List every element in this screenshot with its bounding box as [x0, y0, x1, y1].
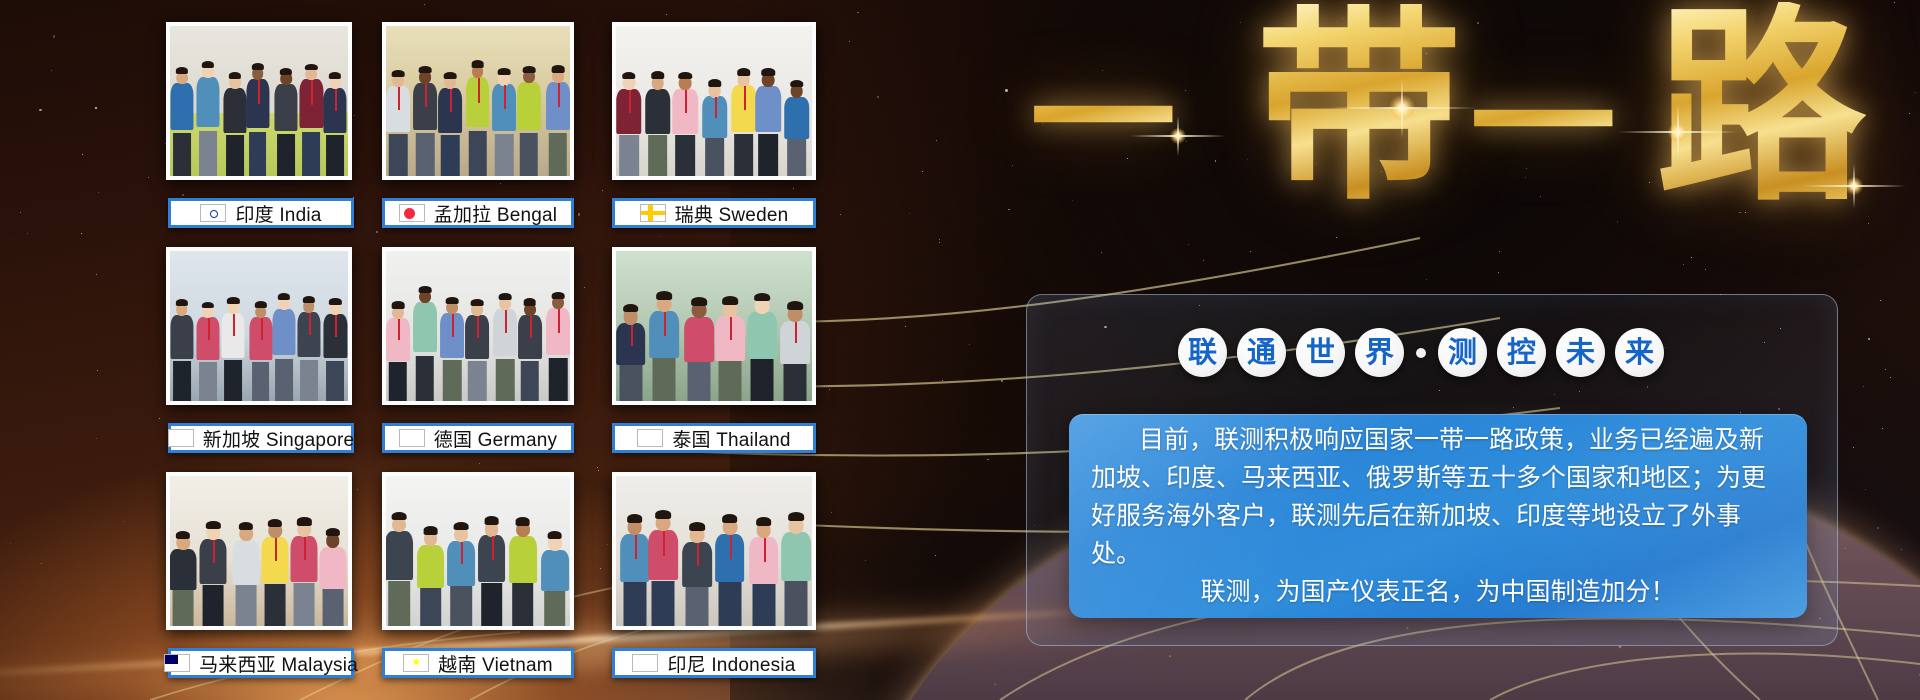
photo-scene: [386, 251, 570, 401]
banner-stage: 印度 India孟加拉 Bengal瑞典 Sweden新加坡 Singapore…: [0, 0, 1920, 700]
country-label: 新加坡 Singapore: [203, 425, 355, 452]
photo-figure: [168, 69, 197, 176]
country-label: 越南 Vietnam: [438, 650, 553, 677]
indonesia-flag: [632, 654, 658, 672]
singapore-flag: [168, 429, 194, 447]
slogan-separator-dot: [1416, 348, 1426, 358]
photo-figure: [166, 533, 200, 626]
india-flag: [200, 204, 226, 222]
photo-figure: [744, 295, 781, 402]
bangladesh-flag: [399, 204, 425, 222]
slogan-badges: 联通世界测控未来: [1178, 328, 1664, 377]
photo-scene: [616, 251, 812, 401]
country-label: 孟加拉 Bengal: [434, 200, 557, 227]
country-photo[interactable]: [166, 472, 352, 630]
photo-scene: [616, 476, 812, 626]
country-photo[interactable]: [382, 247, 574, 405]
slogan-char-6: 测: [1438, 328, 1487, 377]
country-photo[interactable]: [166, 22, 352, 180]
country-photo[interactable]: [382, 22, 574, 180]
photo-figure: [413, 528, 448, 626]
photo-figure: [711, 516, 748, 626]
photo-figure: [463, 62, 493, 176]
germany-flag: [399, 429, 425, 447]
photo-figure: [294, 298, 323, 401]
malaysia-flag: [164, 654, 190, 672]
photo-figure: [167, 301, 196, 401]
country-caption[interactable]: 德国 Germany: [382, 423, 574, 453]
photo-figure: [669, 74, 701, 176]
country-caption[interactable]: 泰国 Thailand: [612, 423, 816, 453]
description-card: 目前，联测积极响应国家一带一路政策，业务已经遍及新加坡、印度、马来西亚、俄罗斯等…: [1069, 414, 1807, 618]
photo-figure: [194, 63, 223, 176]
photo-figure: [321, 74, 350, 176]
photo-figure: [383, 303, 413, 401]
slogan-char-1: 联: [1178, 328, 1227, 377]
country-caption[interactable]: 印尼 Indonesia: [612, 648, 816, 678]
slogan-char-8: 未: [1556, 328, 1605, 377]
thailand-flag: [637, 429, 663, 447]
slogan-char-7: 控: [1497, 328, 1546, 377]
photo-figure: [316, 530, 350, 626]
title-char-3: 一: [1470, 52, 1616, 198]
photo-figure: [699, 81, 731, 176]
country-photo[interactable]: [382, 472, 574, 630]
slogan-char-3: 世: [1296, 328, 1345, 377]
photo-figure: [678, 524, 715, 626]
photo-figure: [410, 288, 440, 401]
country-label: 印尼 Indonesia: [667, 650, 795, 677]
photo-scene: [170, 476, 348, 626]
title-char-2: 带: [1256, 4, 1462, 210]
country-label: 泰国 Thailand: [672, 425, 790, 452]
photo-figure: [382, 514, 417, 626]
photo-figure: [781, 82, 813, 176]
photo-figure: [321, 300, 350, 401]
country-caption[interactable]: 马来西亚 Malaysia: [168, 648, 354, 678]
title-char-4: 路: [1656, 2, 1866, 212]
photo-scene: [386, 26, 570, 176]
photo-figure: [537, 533, 572, 626]
description-paragraph-2: 联测，为国产仪表正名，为中国制造加分！: [1091, 573, 1785, 611]
photo-figure: [645, 512, 682, 626]
photo-scene: [170, 26, 348, 176]
sweden-flag: [640, 204, 666, 222]
slogan-char-2: 通: [1237, 328, 1286, 377]
photo-figure: [435, 74, 465, 176]
photo-figure: [219, 299, 248, 401]
country-caption[interactable]: 瑞典 Sweden: [612, 198, 816, 228]
belt-and-road-title: 一 带 一 路: [1030, 8, 1890, 223]
photo-figure: [462, 301, 492, 401]
country-caption[interactable]: 孟加拉 Bengal: [382, 198, 574, 228]
photo-figure: [544, 294, 574, 401]
photo-figure: [505, 519, 540, 626]
country-caption[interactable]: 越南 Vietnam: [382, 648, 574, 678]
country-photo[interactable]: [612, 22, 816, 180]
country-label: 德国 Germany: [434, 425, 557, 452]
photo-scene: [616, 26, 812, 176]
photo-figure: [613, 74, 645, 176]
country-label: 瑞典 Sweden: [675, 200, 789, 227]
country-photo[interactable]: [612, 472, 816, 630]
country-label: 马来西亚 Malaysia: [199, 650, 358, 677]
photo-figure: [514, 68, 544, 176]
description-paragraph-1: 目前，联测积极响应国家一带一路政策，业务已经遍及新加坡、印度、马来西亚、俄罗斯等…: [1091, 421, 1785, 573]
photo-figure: [612, 306, 649, 402]
photo-figure: [193, 304, 222, 402]
vietnam-flag: [403, 654, 429, 672]
country-caption[interactable]: 新加坡 Singapore: [168, 423, 354, 453]
photo-figure: [197, 523, 231, 626]
photo-figure: [383, 72, 413, 176]
title-char-1: 一: [1030, 48, 1176, 194]
photo-figure: [543, 67, 573, 176]
photo-figure: [645, 293, 682, 401]
photo-figure: [778, 514, 815, 626]
photo-figure: [243, 65, 272, 176]
photo-scene: [170, 251, 348, 401]
country-photo[interactable]: [612, 247, 816, 405]
photo-figure: [753, 70, 785, 176]
slogan-char-9: 来: [1615, 328, 1664, 377]
photo-scene: [386, 476, 570, 626]
country-photo[interactable]: [166, 247, 352, 405]
country-label: 印度 India: [235, 200, 321, 227]
photo-figure: [474, 518, 509, 626]
photo-figure: [777, 303, 814, 401]
country-caption[interactable]: 印度 India: [168, 198, 354, 228]
photo-figure: [515, 300, 545, 401]
slogan-char-4: 界: [1355, 328, 1404, 377]
country-photo-grid: 印度 India孟加拉 Bengal瑞典 Sweden新加坡 Singapore…: [0, 0, 980, 700]
